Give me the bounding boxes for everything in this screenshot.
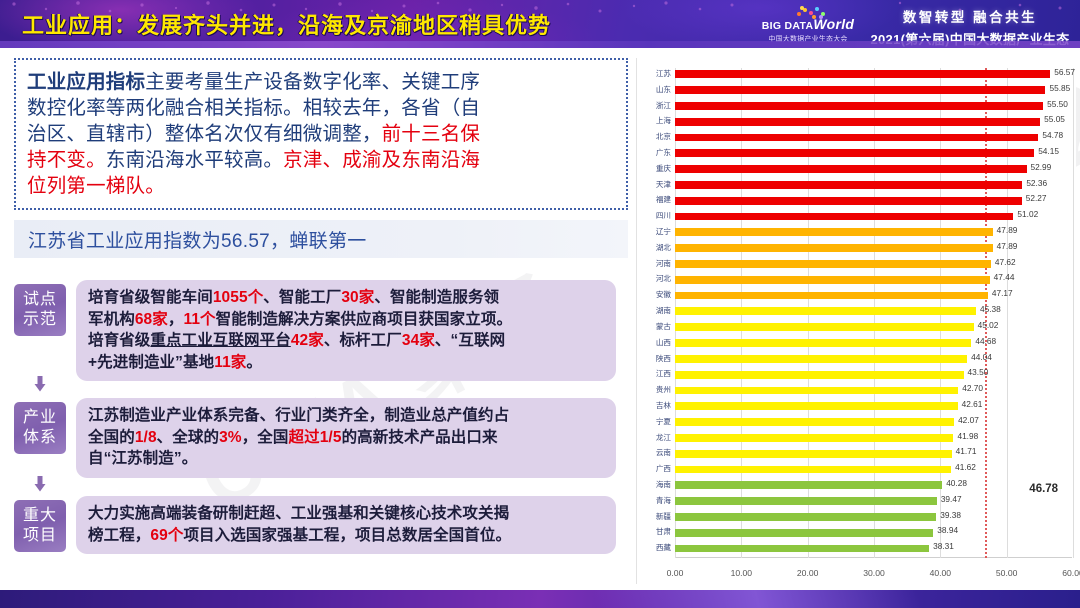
intro-line: 工业应用指标主要考量生产设备数字化率、关键工序 (27, 69, 615, 95)
chart-bar-value-label: 42.61 (962, 399, 983, 409)
chart-bar[interactable] (675, 213, 1013, 221)
chart-x-tick-label: 20.00 (797, 568, 819, 578)
chart-category-label: 湖南 (637, 305, 671, 316)
chart-bar[interactable] (675, 387, 958, 395)
logo-dots-icon (795, 6, 829, 18)
chart-bar-row[interactable]: 云南41.71 (675, 447, 1072, 463)
chart-bar-row[interactable]: 宁夏42.07 (675, 416, 1072, 432)
block-tag-line: 项目 (23, 526, 57, 546)
chart-bar[interactable] (675, 371, 964, 379)
chart-plot-area: 0.0010.0020.0030.0040.0050.0060.0046.78江… (675, 68, 1072, 558)
intro-line: 数控化率等两化融合相关指标。相较去年，各省（自 (27, 95, 615, 121)
logo-cn-text: 中国大数据产业生态大会 (768, 34, 847, 44)
text-segment: 30家 (341, 289, 374, 306)
flow-arrow-down-icon (14, 376, 66, 396)
chart-bar-value-label: 47.62 (995, 257, 1016, 267)
chart-category-label: 辽宁 (637, 226, 671, 237)
chart-bar-value-label: 51.02 (1017, 209, 1038, 219)
chart-x-tick-label: 0.00 (667, 568, 684, 578)
block-line: 军机构68家，11个智能制造解决方案供应商项目获国家立项。 (88, 309, 604, 331)
chart-category-label: 新疆 (637, 511, 671, 522)
chart-bar-row[interactable]: 重庆52.99 (675, 163, 1072, 179)
chart-bar-value-label: 55.50 (1047, 99, 1068, 109)
chart-bar-row[interactable]: 江苏56.57 (675, 68, 1072, 84)
text-segment: 重点工业互联网平台 (150, 332, 290, 349)
chart-bar-value-label: 52.99 (1031, 162, 1052, 172)
slide-title: 工业应用：发展齐头并进，沿海及京渝地区稍具优势 (16, 8, 557, 40)
text-segment: ， (168, 311, 184, 328)
text-segment: 工业应用指标 (27, 71, 145, 93)
chart-category-label: 福建 (637, 194, 671, 205)
chart-category-label: 青海 (637, 495, 671, 506)
chart-bar-row[interactable]: 湖北47.89 (675, 242, 1072, 258)
chart-category-label: 重庆 (637, 163, 671, 174)
text-segment: +先进制造业”基地 (88, 354, 214, 371)
chart-category-label: 陕西 (637, 353, 671, 364)
chart-bar[interactable] (675, 545, 929, 553)
text-segment: 69个 (150, 527, 183, 544)
block-line: +先进制造业”基地11家。 (88, 352, 604, 374)
flow-arrow-down-icon (14, 476, 66, 496)
logo-main-text: BIG DATA (762, 20, 814, 32)
chart-category-label: 广西 (637, 463, 671, 474)
chart-bar-row[interactable]: 安徽47.17 (675, 289, 1072, 305)
chart-x-tick-label: 50.00 (996, 568, 1018, 578)
chart-bar-value-label: 38.94 (937, 525, 958, 535)
text-segment: 42家 (291, 332, 324, 349)
text-segment: 34家 (402, 332, 435, 349)
block-bubble: 大力实施高端装备研制赶超、工业强基和关键核心技术攻关揭榜工程，69个项目入选国家… (76, 496, 616, 554)
top-banner: 工业应用：发展齐头并进，沿海及京渝地区稍具优势 BIG DATAWorld 中国… (0, 0, 1080, 48)
chart-category-label: 江苏 (637, 68, 671, 79)
chart-category-label: 北京 (637, 131, 671, 142)
chart-bar-row[interactable]: 上海55.05 (675, 115, 1072, 131)
chart-bar-row[interactable]: 吉林42.61 (675, 400, 1072, 416)
chart-bar[interactable] (675, 418, 954, 426)
chart-bar-value-label: 47.44 (994, 272, 1015, 282)
chart-category-label: 海南 (637, 479, 671, 490)
chart-x-tick-label: 10.00 (731, 568, 753, 578)
chart-bar-row[interactable]: 天津52.36 (675, 179, 1072, 195)
text-segment: 1055个 (213, 289, 263, 306)
chart-bar-row[interactable]: 新疆39.38 (675, 511, 1072, 527)
kpi-highlight-bar: 江苏省工业应用指数为56.57，蝉联第一 (14, 220, 628, 258)
logo-bigdata-text: BIG DATAWorld (762, 17, 855, 32)
text-segment: 、“互联网 (435, 332, 505, 349)
chart-bar-value-label: 39.38 (940, 510, 961, 520)
text-segment: 。 (246, 354, 262, 371)
chart-bar-value-label: 45.02 (978, 320, 999, 330)
chart-bar-value-label: 39.47 (941, 494, 962, 504)
chart-bar-value-label: 55.85 (1049, 83, 1070, 93)
chart-bar-row[interactable]: 青海39.47 (675, 495, 1072, 511)
chart-x-tick-label: 30.00 (863, 568, 885, 578)
chart-category-label: 西藏 (637, 542, 671, 553)
chart-x-tick-label: 60.00 (1062, 568, 1080, 578)
chart-bar[interactable] (675, 450, 952, 458)
chart-category-label: 湖北 (637, 242, 671, 253)
content-block-1: 试点示范培育省级智能车间1055个、智能工厂30家、智能制造服务领军机构68家，… (14, 280, 616, 381)
intro-line: 治区、直辖市）整体名次仅有细微调整，前十三名保 (27, 121, 615, 147)
chart-bar[interactable] (675, 102, 1043, 110)
text-segment: 京津、成渝及东南沿海 (283, 149, 480, 171)
text-segment: 榜工程， (88, 527, 150, 544)
chart-bar-row[interactable]: 湖南45.38 (675, 305, 1072, 321)
chart-bar-value-label: 41.71 (956, 446, 977, 456)
chart-bar-row[interactable]: 北京54.78 (675, 131, 1072, 147)
chart-bar[interactable] (675, 323, 974, 331)
text-segment: 大力实施高端装备研制赶超、工业强基和关键核心技术攻关揭 (88, 505, 509, 522)
chart-bar-row[interactable]: 河北47.44 (675, 273, 1072, 289)
intro-line: 位列第一梯队。 (27, 173, 615, 199)
chart-x-tick-label: 40.00 (930, 568, 952, 578)
text-segment: 的高新技术产品出口来 (342, 429, 498, 446)
chart-bar[interactable] (675, 118, 1040, 126)
chart-bar-row[interactable]: 浙江55.50 (675, 100, 1072, 116)
text-segment: 数控化率等两化融合相关指标。相较去年，各省（自 (27, 97, 480, 119)
block-tag-line: 试点 (23, 290, 57, 310)
slide-title-text: 工业应用：发展齐头并进，沿海及京渝地区稍具优势 (22, 8, 551, 40)
chart-bar-row[interactable]: 辽宁47.89 (675, 226, 1072, 242)
block-line: 全国的1/8、全球的3%，全国超过1/5的高新技术产品出口来 (88, 427, 604, 449)
chart-bar-value-label: 41.62 (955, 462, 976, 472)
bottom-banner (0, 590, 1080, 608)
block-line: 大力实施高端装备研制赶超、工业强基和关键核心技术攻关揭 (88, 503, 604, 525)
block-tag: 重大项目 (14, 500, 66, 552)
text-segment: 位列第一梯队。 (27, 175, 165, 197)
chart-bar-row[interactable]: 河南47.62 (675, 258, 1072, 274)
block-tag-line: 体系 (23, 428, 57, 448)
chart-category-label: 龙江 (637, 432, 671, 443)
text-segment: ，全国 (242, 429, 289, 446)
text-segment: 、全球的 (157, 429, 219, 446)
chart-category-label: 宁夏 (637, 416, 671, 427)
chart-bar-row[interactable]: 海南40.28 (675, 479, 1072, 495)
chart-category-label: 河北 (637, 273, 671, 284)
chart-category-label: 云南 (637, 447, 671, 458)
chart-bar-row[interactable]: 陕西44.04 (675, 353, 1072, 369)
chart-bar[interactable] (675, 529, 933, 537)
chart-category-label: 山东 (637, 84, 671, 95)
bigdata-world-logo: BIG DATAWorld 中国大数据产业生态大会 (762, 4, 854, 46)
text-segment: 军机构 (88, 311, 135, 328)
chart-bar[interactable] (675, 513, 936, 521)
text-segment: 1/8 (135, 429, 157, 446)
chart-bar-value-label: 47.89 (997, 225, 1018, 235)
chart-bar[interactable] (675, 466, 951, 474)
chart-bar-row[interactable]: 贵州42.70 (675, 384, 1072, 400)
block-tag: 试点示范 (14, 284, 66, 336)
chart-category-label: 安徽 (637, 289, 671, 300)
text-segment: 3% (219, 429, 242, 446)
text-segment: 主要考量生产设备数字化率、关键工序 (145, 71, 480, 93)
text-segment: 超过1/5 (289, 429, 342, 446)
chart-gridline (1073, 68, 1074, 558)
text-segment: 全国的 (88, 429, 135, 446)
text-segment: 、智能工厂 (263, 289, 341, 306)
conference-title: 数智转型 融合共生 2021(第六届)中国大数据产业生态大会 (866, 6, 1074, 48)
chart-bar-value-label: 44.68 (975, 336, 996, 346)
province-index-chart: 0.0010.0020.0030.0040.0050.0060.0046.78江… (636, 58, 1076, 584)
chart-bar[interactable] (675, 228, 993, 236)
chart-bar-value-label: 43.50 (968, 367, 989, 377)
chart-bar-value-label: 41.98 (957, 431, 978, 441)
text-segment: 项目入选国家强基工程，项目总数居全国首位。 (183, 527, 511, 544)
chart-bar-value-label: 38.31 (933, 541, 954, 551)
chart-bar[interactable] (675, 402, 958, 410)
text-segment: 持不变。 (27, 149, 106, 171)
chart-category-label: 浙江 (637, 100, 671, 111)
chart-bar[interactable] (675, 181, 1022, 189)
chart-bar-row[interactable]: 蒙古45.02 (675, 321, 1072, 337)
kpi-text: 江苏省工业应用指数为56.57，蝉联第一 (28, 226, 367, 253)
block-bubble: 江苏制造业产业体系完备、行业门类齐全，制造业总产值约占全国的1/8、全球的3%，… (76, 398, 616, 478)
chart-bar-value-label: 52.27 (1026, 193, 1047, 203)
chart-bar[interactable] (675, 481, 942, 489)
text-segment: 治区、直辖市）整体名次仅有细微调整， (27, 123, 382, 145)
chart-bar-value-label: 42.07 (958, 415, 979, 425)
text-segment: 自“江苏制造”。 (88, 450, 197, 467)
chart-bar[interactable] (675, 165, 1027, 173)
chart-bar-value-label: 56.57 (1054, 67, 1075, 77)
block-tag-line: 产业 (23, 408, 57, 428)
text-segment: 培育省级智能车间 (88, 289, 213, 306)
intro-text-box: 工业应用指标主要考量生产设备数字化率、关键工序数控化率等两化融合相关指标。相较去… (14, 58, 628, 210)
chart-bar-row[interactable]: 福建52.27 (675, 194, 1072, 210)
block-line: 榜工程，69个项目入选国家强基工程，项目总数居全国首位。 (88, 525, 604, 547)
chart-bar-row[interactable]: 广西41.62 (675, 463, 1072, 479)
chart-bar[interactable] (675, 70, 1050, 78)
chart-bar[interactable] (675, 134, 1038, 142)
text-segment: 11个 (183, 311, 215, 328)
chart-bar[interactable] (675, 86, 1045, 94)
chart-bar[interactable] (675, 197, 1022, 205)
chart-bar-row[interactable]: 西藏38.31 (675, 542, 1072, 558)
chart-bar-value-label: 47.89 (997, 241, 1018, 251)
chart-bar-value-label: 47.17 (992, 288, 1013, 298)
text-segment: 江苏制造业产业体系完备、行业门类齐全，制造业总产值约占 (88, 407, 509, 424)
chart-category-label: 甘肃 (637, 526, 671, 537)
chart-bar-row[interactable]: 山西44.68 (675, 337, 1072, 353)
chart-category-label: 四川 (637, 210, 671, 221)
intro-line: 持不变。东南沿海水平较高。京津、成渝及东南沿海 (27, 147, 615, 173)
chart-bar[interactable] (675, 292, 988, 300)
text-segment: 培育省级 (88, 332, 150, 349)
chart-bar-row[interactable]: 江西43.50 (675, 368, 1072, 384)
block-tag-line: 重大 (23, 506, 57, 526)
chart-category-label: 上海 (637, 115, 671, 126)
text-segment: 、智能制造服务领 (374, 289, 499, 306)
chart-category-label: 江西 (637, 368, 671, 379)
text-segment: 11家 (214, 354, 246, 371)
chart-category-label: 山西 (637, 337, 671, 348)
chart-bar-value-label: 52.36 (1026, 178, 1047, 188)
chart-bar-value-label: 40.28 (946, 478, 967, 488)
chart-bar-value-label: 54.78 (1042, 130, 1063, 140)
chart-bar[interactable] (675, 149, 1034, 157)
block-tag: 产业体系 (14, 402, 66, 454)
chart-bar[interactable] (675, 307, 976, 315)
text-segment: 智能制造解决方案供应商项目获国家立项。 (216, 311, 512, 328)
chart-bar-value-label: 45.38 (980, 304, 1001, 314)
conference-name: 2021(第六届)中国大数据产业生态大会 (866, 29, 1074, 48)
content-block-3: 重大项目大力实施高端装备研制赶超、工业强基和关键核心技术攻关揭榜工程，69个项目… (14, 496, 616, 554)
chart-category-label: 河南 (637, 258, 671, 269)
text-segment: 68家 (135, 311, 168, 328)
chart-bar[interactable] (675, 339, 971, 347)
chart-category-label: 吉林 (637, 400, 671, 411)
chart-bar-value-label: 55.05 (1044, 114, 1065, 124)
chart-category-label: 蒙古 (637, 321, 671, 332)
chart-bar-value-label: 54.15 (1038, 146, 1059, 156)
chart-bar[interactable] (675, 244, 993, 252)
chart-bar[interactable] (675, 260, 991, 268)
left-content-panel: 工业应用指标主要考量生产设备数字化率、关键工序数控化率等两化融合相关指标。相较去… (14, 58, 628, 582)
text-segment: 前十三名保 (382, 123, 481, 145)
text-segment: 、标杆工厂 (324, 332, 402, 349)
chart-bar[interactable] (675, 497, 937, 505)
chart-category-label: 天津 (637, 179, 671, 190)
chart-bar-row[interactable]: 四川51.02 (675, 210, 1072, 226)
block-bubble: 培育省级智能车间1055个、智能工厂30家、智能制造服务领军机构68家，11个智… (76, 280, 616, 381)
chart-bar[interactable] (675, 276, 990, 284)
chart-bar[interactable] (675, 355, 967, 363)
chart-bar[interactable] (675, 434, 953, 442)
slide-page: 工业应用：发展齐头并进，沿海及京渝地区稍具优势 BIG DATAWorld 中国… (0, 0, 1080, 608)
block-line: 培育省级智能车间1055个、智能工厂30家、智能制造服务领 (88, 287, 604, 309)
chart-bar-row[interactable]: 龙江41.98 (675, 432, 1072, 448)
block-line: 江苏制造业产业体系完备、行业门类齐全，制造业总产值约占 (88, 405, 604, 427)
text-segment: 东南沿海水平较高。 (106, 149, 283, 171)
chart-bar-value-label: 42.70 (962, 383, 983, 393)
content-block-2: 产业体系江苏制造业产业体系完备、行业门类齐全，制造业总产值约占全国的1/8、全球… (14, 398, 616, 478)
chart-category-label: 广东 (637, 147, 671, 158)
chart-bar-row[interactable]: 广东54.15 (675, 147, 1072, 163)
chart-bar-row[interactable]: 甘肃38.94 (675, 526, 1072, 542)
chart-category-label: 贵州 (637, 384, 671, 395)
chart-bar-value-label: 44.04 (971, 352, 992, 362)
chart-bar-row[interactable]: 山东55.85 (675, 84, 1072, 100)
block-tag-line: 示范 (23, 310, 57, 330)
conference-slogan: 数智转型 融合共生 (866, 6, 1074, 26)
block-line: 自“江苏制造”。 (88, 448, 604, 470)
block-line: 培育省级重点工业互联网平台42家、标杆工厂34家、“互联网 (88, 330, 604, 352)
